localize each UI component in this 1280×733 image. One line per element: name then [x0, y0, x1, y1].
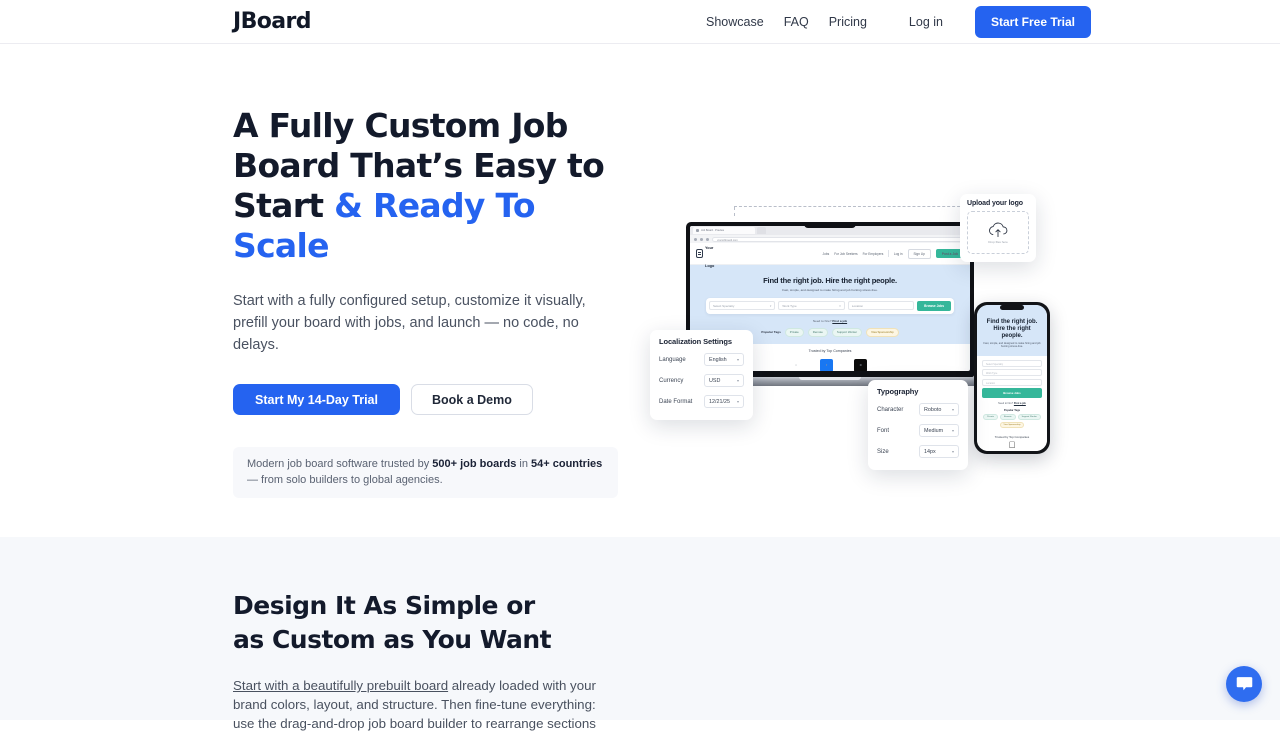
- mockup-search-bar: Select Specialty▾ Work Type▾ Location Br…: [706, 298, 954, 314]
- tag-chip[interactable]: Remote: [808, 328, 828, 337]
- trust-lead: Modern job board software trusted by: [247, 458, 432, 470]
- company-logo-netflix: N Netflix: [854, 359, 867, 371]
- language-value: English: [709, 357, 727, 363]
- typography-row-character: Character Roboto ▾: [877, 399, 959, 420]
- row-label: Font: [877, 428, 889, 434]
- nav-link-pricing[interactable]: Pricing: [819, 9, 877, 35]
- phone-trusted-title: Trusted by Top Companies: [982, 435, 1042, 439]
- mockup-subheadline: Fast, simple, and designed to make hirin…: [696, 288, 964, 292]
- phone-post-prompt-text: Need to hire?: [998, 402, 1014, 405]
- trust-tail: — from solo builders to global agencies.: [247, 474, 443, 486]
- mockup-nav-links: Jobs For Job Seekers For Employers Log i…: [822, 249, 964, 259]
- browser-tab-title: Job Board · Preview: [701, 229, 724, 232]
- hero-copy: A Fully Custom Job Board That’s Easy to …: [233, 106, 628, 498]
- upload-card-title: Upload your logo: [967, 200, 1029, 207]
- trust-stat-countries: 54+ countries: [531, 458, 602, 470]
- phone-tag-chip[interactable]: Visa Sponsorship: [1000, 422, 1025, 428]
- phone-specialty-field[interactable]: Select Specialty: [982, 360, 1042, 367]
- row-label: Date Format: [659, 399, 692, 405]
- tag-chip[interactable]: Support Worker: [832, 328, 862, 337]
- apple-icon: : [795, 359, 797, 371]
- browser-new-tab-button[interactable]: [757, 227, 766, 234]
- nav-link-showcase[interactable]: Showcase: [696, 9, 774, 35]
- hero-title: A Fully Custom Job Board That’s Easy to …: [233, 106, 628, 266]
- localization-row-dateformat: Date Format 12/21/25 ▾: [659, 391, 744, 412]
- trust-mid: in: [516, 458, 531, 470]
- phone-tag-list: Private Remote Support Worker Visa Spons…: [982, 414, 1042, 428]
- phone-tag-chip[interactable]: Support Worker: [1018, 414, 1041, 420]
- nav-link-login[interactable]: Log in: [899, 9, 953, 35]
- popular-tags-label: Popular Tags: [761, 330, 780, 334]
- brand-logo[interactable]: JBoard: [233, 9, 311, 34]
- logo-placeholder-icon: [696, 249, 703, 258]
- phone-worktype-field[interactable]: Work Type: [982, 369, 1042, 376]
- tag-chip[interactable]: Private: [785, 328, 804, 337]
- trust-stat-boards: 500+ job boards: [432, 458, 516, 470]
- font-size-value: 14px: [924, 449, 936, 455]
- chevron-down-icon: ▾: [737, 378, 739, 383]
- typography-card-title: Typography: [877, 387, 959, 396]
- chevron-down-icon: ▾: [770, 304, 772, 308]
- mockup-logo: Your Logo: [696, 236, 714, 272]
- phone-subheadline: Fast, simple, and designed to make hirin…: [983, 342, 1041, 349]
- nav-divider: [888, 250, 889, 257]
- phone-browse-jobs-button[interactable]: Browse Jobs: [982, 388, 1042, 398]
- mockup-site-navbar: Your Logo Jobs For Job Seekers For Emplo…: [690, 243, 970, 265]
- facebook-icon: f: [820, 359, 833, 371]
- design-title-line2: as Custom as You Want: [233, 625, 551, 654]
- phone-mockup: Find the right job. Hire the right peopl…: [974, 302, 1050, 454]
- url-input[interactable]: yourjobboard.com: [712, 237, 966, 242]
- hero-subtitle: Start with a fully configured setup, cus…: [233, 290, 613, 356]
- mockup-worktype-select[interactable]: Work Type▾: [778, 301, 844, 310]
- phone-headline: Find the right job. Hire the right peopl…: [983, 319, 1041, 340]
- phone-tag-chip[interactable]: Remote: [1000, 414, 1016, 420]
- localization-row-currency: Currency USD ▾: [659, 370, 744, 391]
- phone-location-field[interactable]: Location: [982, 379, 1042, 386]
- chat-widget-button[interactable]: [1226, 666, 1262, 702]
- browser-tab[interactable]: Job Board · Preview: [693, 227, 755, 234]
- nav-link-faq[interactable]: FAQ: [774, 9, 819, 35]
- chevron-down-icon: ▾: [952, 449, 954, 454]
- localization-settings-card: Localization Settings Language English ▾…: [650, 330, 753, 420]
- chevron-down-icon: ▾: [952, 407, 954, 412]
- mockup-signup-button[interactable]: Sign Up: [908, 249, 931, 259]
- phone-post-a-job-link[interactable]: Post a job: [1014, 402, 1026, 405]
- mockup-nav-login[interactable]: Log in: [894, 252, 903, 256]
- site-header: JBoard Showcase FAQ Pricing Log in Start…: [0, 0, 1280, 44]
- dotted-guide-line: [734, 206, 970, 207]
- start-trial-button[interactable]: Start My 14-Day Trial: [233, 384, 400, 415]
- font-weight-value: Medium: [924, 428, 943, 434]
- typography-card: Typography Character Roboto ▾ Font Mediu…: [868, 380, 968, 470]
- localization-card-title: Localization Settings: [659, 337, 744, 346]
- font-size-select[interactable]: 14px ▾: [919, 445, 959, 458]
- phone-apple-icon: : [982, 440, 1042, 450]
- phone-tag-chip[interactable]: Private: [983, 414, 998, 420]
- date-format-value: 12/21/25: [709, 399, 730, 405]
- currency-select[interactable]: USD ▾: [704, 374, 744, 387]
- currency-value: USD: [709, 378, 720, 384]
- chevron-down-icon: ▾: [737, 357, 739, 362]
- date-format-select[interactable]: 12/21/25 ▾: [704, 395, 744, 408]
- netflix-icon: N: [854, 359, 867, 371]
- mockup-location-input[interactable]: Location: [848, 301, 914, 310]
- phone-dynamic-island: [1000, 305, 1024, 310]
- localization-row-language: Language English ▾: [659, 349, 744, 370]
- mockup-nav-employers[interactable]: For Employers: [863, 252, 884, 256]
- row-label: Language: [659, 357, 686, 363]
- main-navigation: Showcase FAQ Pricing Log in Start Free T…: [660, 6, 1280, 38]
- laptop-notch: [804, 222, 856, 228]
- phone-post-prompt: Need to hire? Post a job: [982, 402, 1042, 405]
- chevron-down-icon: ▾: [952, 428, 954, 433]
- font-weight-select[interactable]: Medium ▾: [919, 424, 959, 437]
- typography-row-size: Size 14px ▾: [877, 441, 959, 462]
- worktype-value: Work Type: [782, 304, 796, 308]
- chevron-down-icon: ▾: [737, 399, 739, 404]
- start-free-trial-button[interactable]: Start Free Trial: [975, 6, 1091, 38]
- character-select[interactable]: Roboto ▾: [919, 403, 959, 416]
- hero-section: A Fully Custom Job Board That’s Easy to …: [0, 44, 1280, 537]
- prebuilt-board-link[interactable]: Start with a beautifully prebuilt board: [233, 678, 448, 693]
- phone-body: Select Specialty Work Type Location Brow…: [977, 356, 1047, 451]
- row-label: Currency: [659, 378, 683, 384]
- mockup-headline: Find the right job. Hire the right peopl…: [696, 276, 964, 285]
- upload-cloud-icon: [987, 222, 1009, 238]
- mockup-specialty-select[interactable]: Select Specialty▾: [709, 301, 775, 310]
- browser-urlbar: yourjobboard.com: [690, 235, 970, 243]
- tag-chip[interactable]: Visa Sponsorship: [866, 328, 898, 337]
- row-label: Size: [877, 449, 889, 455]
- character-value: Roboto: [924, 407, 941, 413]
- post-a-job-link[interactable]: Post a job: [832, 319, 847, 323]
- design-title-line1: Design It As Simple or: [233, 591, 535, 620]
- dropzone-caption: Drop files here: [988, 240, 1008, 244]
- logo-dropzone[interactable]: Drop files here: [967, 211, 1029, 254]
- mockup-nav-jobs[interactable]: Jobs: [822, 252, 829, 256]
- hero-cta-group: Start My 14-Day Trial Book a Demo: [233, 384, 628, 415]
- chat-bubble-icon: [1235, 675, 1254, 693]
- phone-hero: Find the right job. Hire the right peopl…: [977, 305, 1047, 356]
- design-section: Design It As Simple or as Custom as You …: [0, 537, 1280, 720]
- mockup-browse-jobs-button[interactable]: Browse Jobs: [917, 301, 951, 311]
- hero-product-mockup: Job Board · Preview yourjobboard.com You…: [650, 192, 1050, 464]
- language-select[interactable]: English ▾: [704, 353, 744, 366]
- mockup-post-prompt: Need to hire? Post a job: [696, 319, 964, 323]
- trust-badge: Modern job board software trusted by 500…: [233, 447, 618, 498]
- specialty-value: Select Specialty: [713, 304, 734, 308]
- chevron-down-icon: ▾: [839, 304, 841, 308]
- tab-favicon: [696, 229, 699, 232]
- row-label: Character: [877, 407, 903, 413]
- design-section-title: Design It As Simple or as Custom as You …: [233, 589, 618, 657]
- mockup-nav-seekers[interactable]: For Job Seekers: [834, 252, 857, 256]
- book-demo-button[interactable]: Book a Demo: [411, 384, 533, 415]
- phone-screen: Find the right job. Hire the right peopl…: [977, 305, 1047, 451]
- design-section-body: Start with a beautifully prebuilt board …: [233, 676, 618, 733]
- company-logo-facebook: f Facebook: [820, 359, 833, 371]
- upload-logo-card: Upload your logo Drop files here: [960, 194, 1036, 262]
- mockup-logo-text: Your Logo: [705, 236, 714, 272]
- company-logo-apple:  Apple: [793, 359, 799, 371]
- typography-row-font: Font Medium ▾: [877, 420, 959, 441]
- post-prompt-text: Need to hire?: [813, 319, 832, 323]
- location-value: Location: [852, 304, 863, 308]
- phone-tags-label: Popular Tags: [982, 409, 1042, 412]
- design-section-content: Design It As Simple or as Custom as You …: [233, 589, 618, 733]
